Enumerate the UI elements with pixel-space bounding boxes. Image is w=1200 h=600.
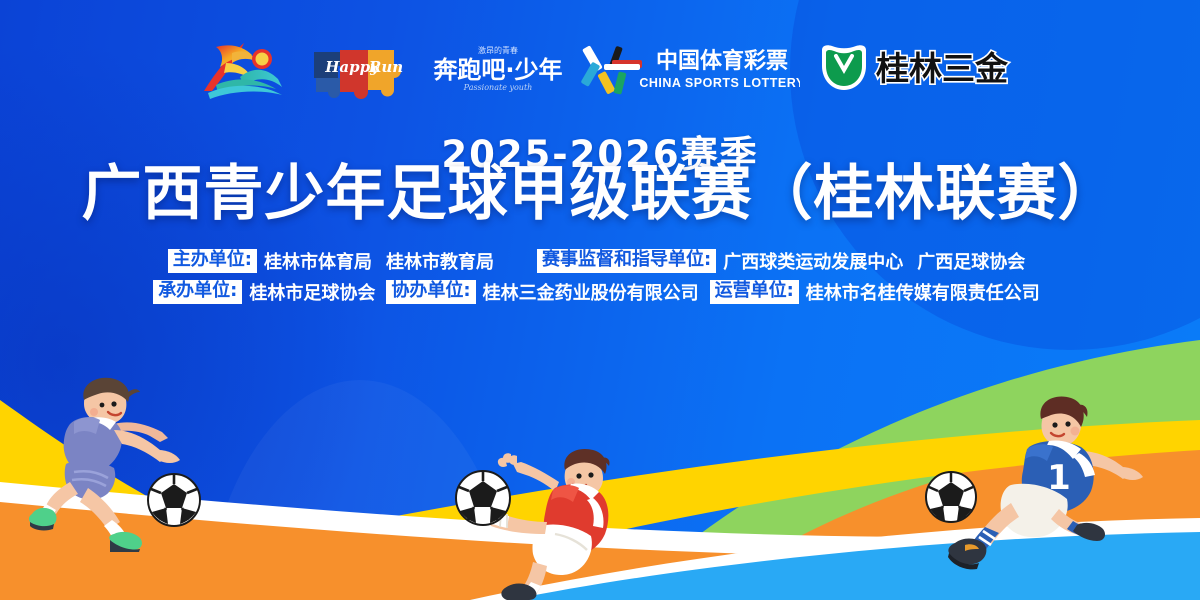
organizer-label: 承办单位:	[153, 280, 242, 304]
benpao-top-label: 激昂的青春	[478, 45, 518, 55]
tournament-poster: Happy Run 激昂的青春 奔跑吧·少年 Passionate youth	[0, 0, 1200, 600]
organizer-value: 桂林三金药业股份有限公司	[476, 279, 706, 305]
organizer-group-operator: 运营单位: 桂林市名桂传媒有限责任公司	[710, 279, 1047, 305]
organizer-value: 桂林市体育局	[257, 248, 379, 274]
organizer-group-coorganizer: 协办单位: 桂林三金药业股份有限公司	[386, 279, 705, 305]
organizer-row: 主办单位: 桂林市体育局 桂林市教育局 赛事监督和指导单位: 广西球类运动发展中…	[0, 248, 1200, 274]
organizer-label: 赛事监督和指导单位:	[537, 249, 716, 273]
player-left-soccer-ball	[148, 474, 200, 526]
organizer-value: 桂林市教育局	[379, 248, 501, 274]
lottery-en-label: CHINA SPORTS LOTTERY	[639, 76, 800, 90]
player-center-soccer-ball	[456, 471, 510, 525]
sponsor-logo-strip: Happy Run 激昂的青春 奔跑吧·少年 Passionate youth	[0, 33, 1200, 105]
player-right-head	[1040, 397, 1087, 446]
organizer-block: 主办单位: 桂林市体育局 桂林市教育局 赛事监督和指导单位: 广西球类运动发展中…	[0, 248, 1200, 310]
organizer-value: 桂林市足球协会	[242, 279, 382, 305]
benpaoba-shaonian-logo: 激昂的青春 奔跑吧·少年 Passionate youth	[430, 40, 580, 98]
organizer-group-undertaker: 承办单位: 桂林市足球协会	[153, 279, 382, 305]
organizer-label: 运营单位:	[710, 280, 799, 304]
organizer-value: 桂林市名桂传媒有限责任公司	[799, 279, 1047, 305]
player-right-soccer-ball	[926, 472, 976, 522]
player-right-shoe-rear	[1073, 523, 1105, 541]
benpao-main-label: 奔跑吧·少年	[433, 56, 562, 84]
organizer-label: 主办单位:	[168, 249, 257, 273]
guilin-tourism-logo	[186, 33, 306, 105]
happy-run-logo: Happy Run	[306, 36, 430, 102]
player-left-illustration	[22, 372, 222, 552]
china-sports-lottery-logo: 中国体育彩票 CHINA SPORTS LOTTERY	[580, 38, 814, 100]
page-title: 广西青少年足球甲级联赛（桂林联赛）	[0, 160, 1200, 229]
guilin-sanjin-logo: 桂林三金	[814, 40, 1014, 98]
organizer-value: 广西足球协会	[910, 248, 1032, 274]
sanjin-cn-label: 桂林三金	[876, 49, 1009, 88]
organizer-row: 承办单位: 桂林市足球协会 协办单位: 桂林三金药业股份有限公司 运营单位: 桂…	[0, 279, 1200, 305]
organizer-group-host: 主办单位: 桂林市体育局 桂林市教育局	[168, 248, 501, 274]
organizer-label: 协办单位:	[386, 280, 475, 304]
organizer-value: 广西球类运动发展中心	[716, 248, 910, 274]
player-center-illustration	[455, 430, 655, 600]
lottery-cn-label: 中国体育彩票	[656, 48, 788, 74]
organizer-group-supervisor: 赛事监督和指导单位: 广西球类运动发展中心 广西足球协会	[537, 248, 1032, 274]
svg-text:Run: Run	[368, 58, 403, 76]
player-right-illustration: 1	[925, 385, 1145, 575]
benpao-sub-label: Passionate youth	[463, 83, 533, 92]
